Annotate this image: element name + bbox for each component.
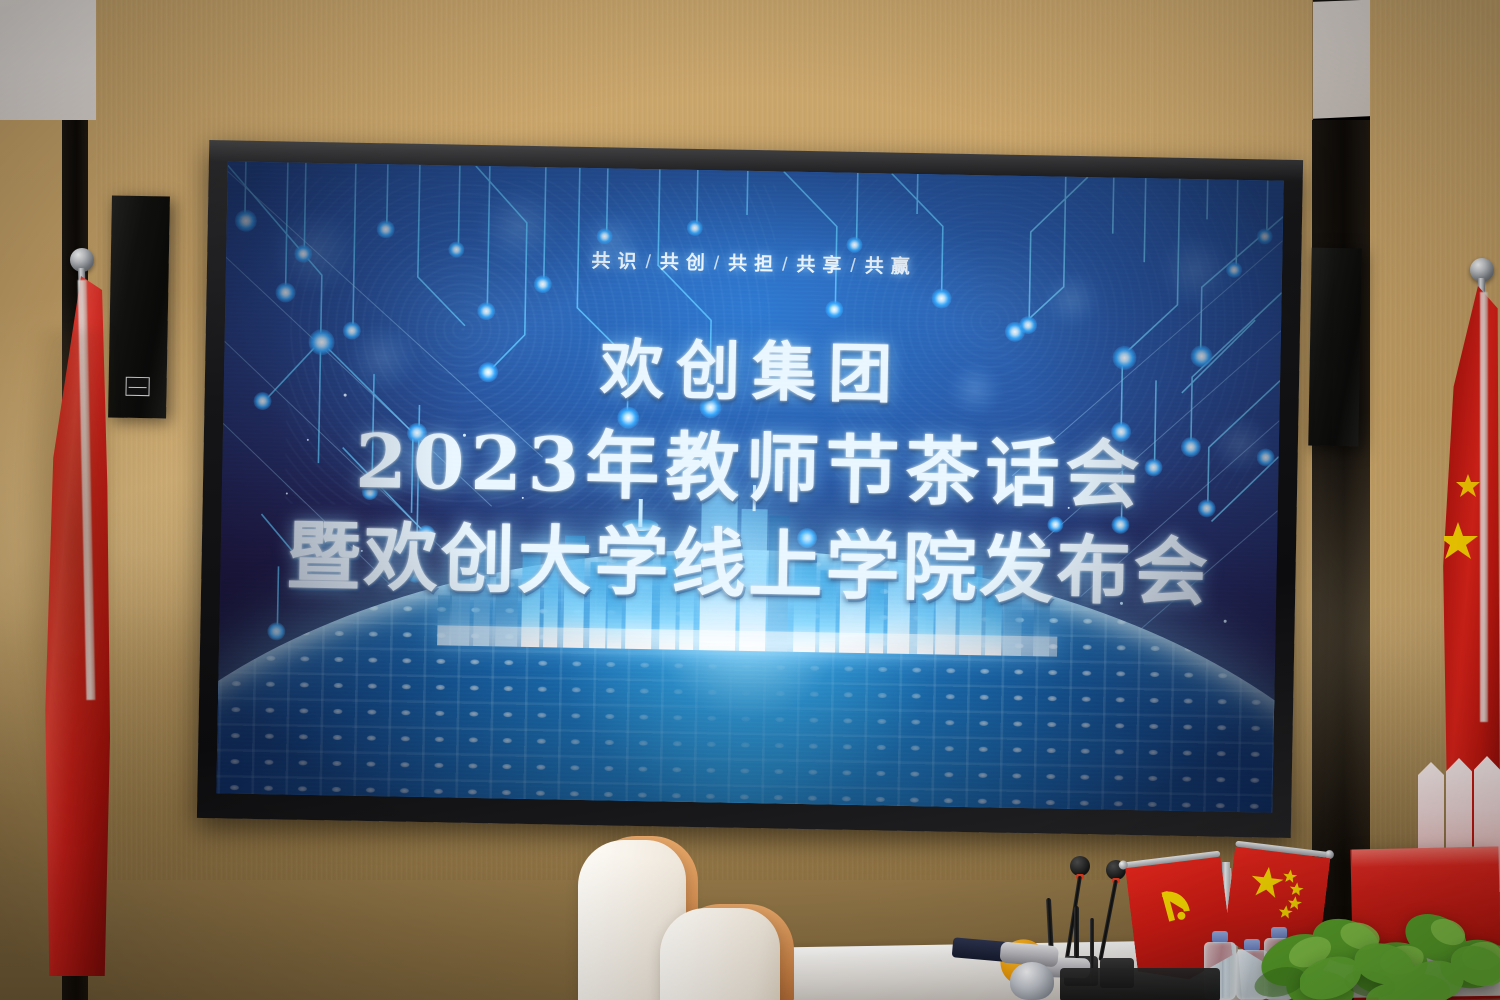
red-table-top-highlight	[1352, 846, 1500, 867]
speaker-badge	[125, 377, 149, 396]
green-potted-plant	[1300, 930, 1500, 1000]
chair-back	[660, 908, 780, 1000]
cream-conference-chair[interactable]	[660, 904, 800, 1000]
mic-capsule	[1070, 856, 1090, 876]
led-screen-surface[interactable]: 共识/共创/共担/共享/共赢 欢创集团 2023年教师节茶话会 暨欢创大学线上学…	[216, 161, 1283, 812]
hammer-sickle-emblem	[1154, 882, 1201, 931]
screen-vignette	[216, 161, 1283, 812]
flag-cast-shadow	[20, 330, 110, 850]
chrome-call-bell[interactable]	[1010, 962, 1054, 1000]
wall-mounted-speaker	[1308, 248, 1361, 447]
wall-mounted-speaker	[108, 196, 170, 419]
led-display-assembly[interactable]: 共识/共创/共担/共享/共赢 欢创集团 2023年教师节茶话会 暨欢创大学线上学…	[197, 140, 1303, 838]
flag-halyard	[1480, 292, 1488, 722]
mic-gooseneck	[1098, 880, 1118, 961]
screenshot-stage: 共识/共创/共担/共享/共赢 欢创集团 2023年教师节茶话会 暨欢创大学线上学…	[0, 0, 1500, 1000]
mic-grip	[952, 937, 1008, 962]
table-equipment-dark	[1060, 968, 1220, 1000]
